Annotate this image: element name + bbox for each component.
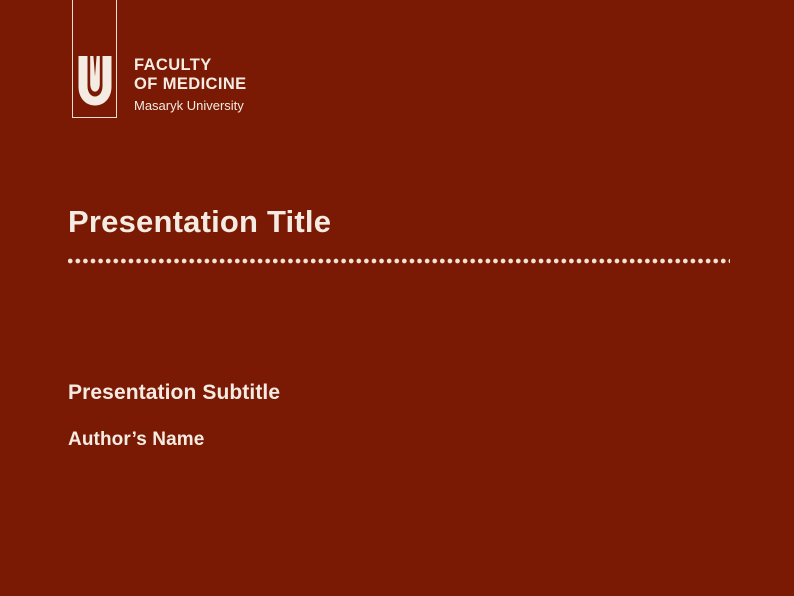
faculty-logo-lockup: FACULTY OF MEDICINE Masaryk University	[72, 0, 332, 122]
masaryk-university-mu-monogram-icon	[77, 56, 113, 106]
presentation-title: Presentation Title	[68, 204, 331, 240]
logo-line-university: Masaryk University	[134, 96, 334, 116]
logo-line-of-medicine: OF MEDICINE	[134, 75, 334, 94]
title-slide: FACULTY OF MEDICINE Masaryk University P…	[0, 0, 794, 596]
dotted-divider	[68, 258, 730, 264]
logo-line-faculty: FACULTY	[134, 56, 334, 75]
presentation-subtitle: Presentation Subtitle	[68, 381, 280, 405]
author-name: Author’s Name	[68, 429, 204, 451]
faculty-logo-text: FACULTY OF MEDICINE Masaryk University	[134, 56, 334, 116]
